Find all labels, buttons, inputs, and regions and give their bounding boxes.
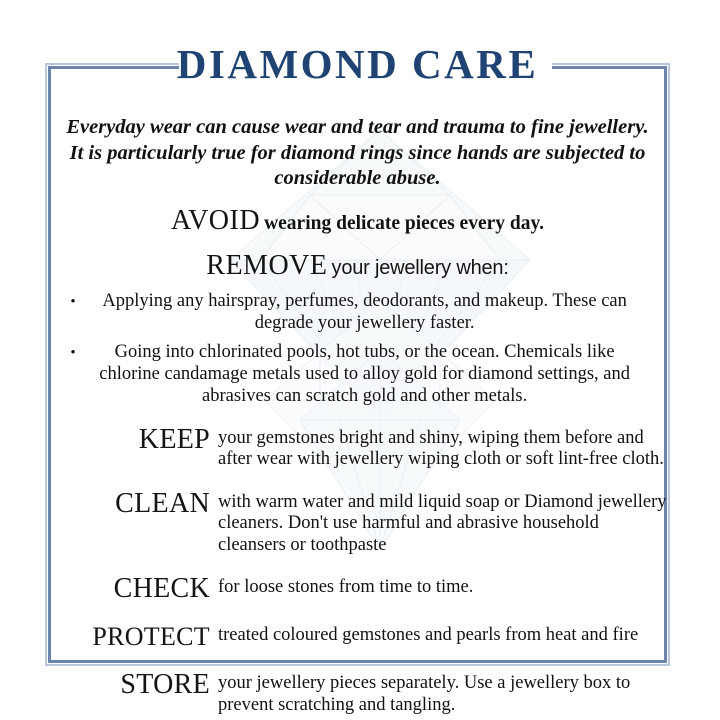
page-title: DIAMOND CARE — [48, 40, 667, 88]
clean-keyword: CLEAN — [58, 487, 210, 519]
bullet-icon: • — [70, 290, 75, 313]
section-protect: PROTECT treated coloured gemstones and p… — [48, 620, 667, 652]
avoid-line: AVOID wearing delicate pieces every day. — [48, 205, 667, 237]
remove-text: your jewellery when: — [332, 257, 509, 279]
bullet-icon: • — [70, 341, 75, 364]
frame-glow-bottom — [45, 664, 670, 666]
frame-glow-right — [668, 63, 670, 664]
intro-paragraph: Everyday wear can cause wear and tear an… — [58, 115, 657, 192]
section-store: STORE your jewellery pieces separately. … — [48, 668, 667, 716]
check-text: for loose stones from time to time. — [210, 572, 667, 599]
remove-keyword: REMOVE — [206, 250, 327, 281]
avoid-keyword: AVOID — [171, 205, 260, 236]
protect-keyword: PROTECT — [58, 620, 210, 652]
store-text: your jewellery pieces separately. Use a … — [210, 668, 667, 716]
section-check: CHECK for loose stones from time to time… — [48, 572, 667, 604]
section-keep: KEEP your gemstones bright and shiny, wi… — [48, 423, 667, 471]
keep-text: your gemstones bright and shiny, wiping … — [210, 423, 667, 471]
clean-text: with warm water and mild liquid soap or … — [210, 487, 667, 557]
frame-glow-left — [45, 63, 47, 664]
check-keyword: CHECK — [58, 572, 210, 604]
list-item: • Going into chlorinated pools, hot tubs… — [48, 341, 667, 407]
section-clean: CLEAN with warm water and mild liquid so… — [48, 487, 667, 557]
list-item: • Applying any hairspray, perfumes, deod… — [48, 290, 667, 334]
store-keyword: STORE — [58, 668, 210, 700]
list-item-text: Applying any hairspray, perfumes, deodor… — [85, 290, 645, 334]
protect-text: treated coloured gemstones and pearls fr… — [210, 620, 667, 647]
keep-keyword: KEEP — [58, 423, 210, 455]
list-item-text: Going into chlorinated pools, hot tubs, … — [85, 341, 645, 407]
remove-line: REMOVE your jewellery when: — [48, 250, 667, 282]
diamond-care-poster: DIAMOND CARE Everyday wear can cause wea… — [0, 0, 720, 720]
avoid-text: wearing delicate pieces every day. — [264, 213, 544, 234]
remove-bullet-list: • Applying any hairspray, perfumes, deod… — [48, 290, 667, 407]
poster-content: DIAMOND CARE Everyday wear can cause wea… — [48, 40, 667, 663]
